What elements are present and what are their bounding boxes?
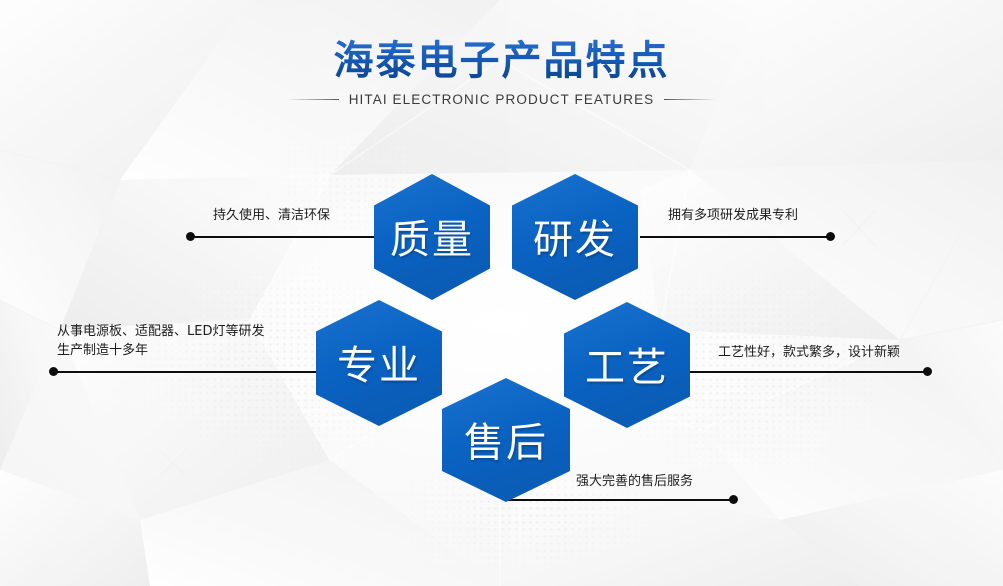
connector-line-rd [640,236,832,238]
page-subtitle: HITAI ELECTRONIC PRODUCT FEATURES [349,92,655,107]
hexagon-craft[interactable]: 工艺 [564,302,690,428]
hexagon-label-professional: 专业 [337,333,421,391]
hexagon-rd[interactable]: 研发 [512,174,638,300]
hexagon-label-craft: 工艺 [585,335,669,393]
caption-craft: 工艺性好，款式繁多，设计新颖 [718,343,900,362]
connector-line-quality [190,236,380,238]
caption-after-sale: 强大完善的售后服务 [576,472,693,491]
hexagon-after-sale[interactable]: 售后 [442,378,570,502]
caption-quality: 持久使用、清洁环保 [213,206,330,225]
connector-dot-professional [49,367,58,376]
connector-line-after-sale [505,499,735,501]
caption-rd: 拥有多项研发成果专利 [668,206,798,225]
hexagon-label-rd: 研发 [533,207,617,265]
page-subtitle-row: HITAI ELECTRONIC PRODUCT FEATURES [0,92,1003,107]
connector-dot-quality [186,232,195,241]
connector-line-professional [55,371,323,373]
page-title: 海泰电子产品特点 [0,36,1003,86]
connector-dot-after-sale [729,495,738,504]
connector-line-craft [684,371,928,373]
page-header: 海泰电子产品特点 HITAI ELECTRONIC PRODUCT FEATUR… [0,36,1003,107]
hexagon-quality[interactable]: 质量 [374,174,490,300]
subtitle-dash-left [287,99,339,100]
connector-dot-rd [826,232,835,241]
caption-professional-line2: 生产制造十多年 [57,341,264,360]
caption-professional: 从事电源板、适配器、LED灯等研发 生产制造十多年 [57,322,264,360]
connector-dot-craft [923,367,932,376]
subtitle-dash-right [664,99,716,100]
feature-banner: 海泰电子产品特点 HITAI ELECTRONIC PRODUCT FEATUR… [0,0,1003,586]
hexagon-label-after-sale: 售后 [464,410,548,468]
caption-professional-line1: 从事电源板、适配器、LED灯等研发 [57,324,264,339]
hexagon-label-quality: 质量 [390,207,474,265]
hexagon-professional[interactable]: 专业 [316,300,442,426]
